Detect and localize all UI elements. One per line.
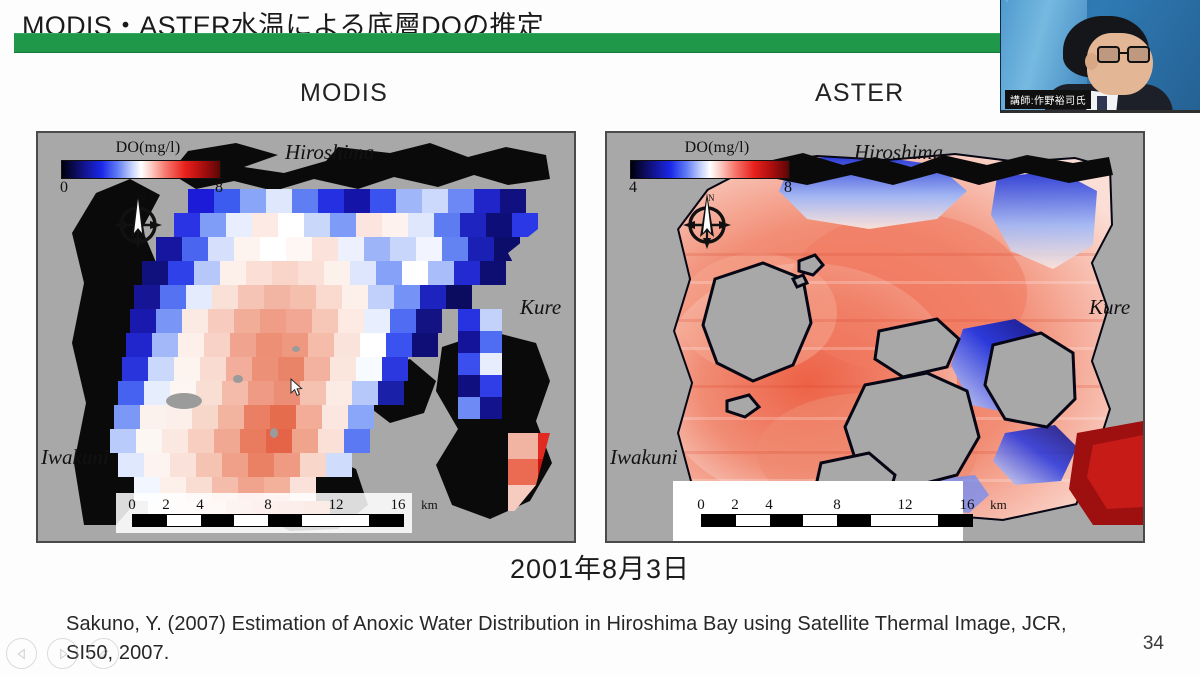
date-caption: 2001年8月3日: [0, 547, 1200, 586]
place-label-hiroshima: Hiroshima: [854, 140, 943, 165]
compass-rose-icon: N: [679, 191, 735, 261]
pen-icon: [97, 647, 110, 660]
modis-legend-min: 0: [60, 179, 68, 197]
aster-legend-max: 8: [784, 179, 792, 197]
scale-tick: 16: [960, 497, 975, 514]
modis-legend: DO(mg/l) 0 8: [58, 139, 238, 197]
video-progress-fill: [1001, 110, 1200, 113]
scale-tick: 2: [162, 497, 170, 514]
aster-scalebar-labels: 0 2 4 8 12 16 km: [693, 497, 993, 514]
scale-tick: 0: [697, 497, 705, 514]
aster-scalebar-track: [701, 514, 973, 527]
compass-rose-icon: N: [110, 191, 166, 261]
map-panel-aster: DO(mg/l) 4 8 N Hiroshima Kure Iwakuni: [605, 131, 1145, 543]
modis-legend-title: DO(mg/l): [58, 139, 238, 157]
aster-legend: DO(mg/l) 4 8: [627, 139, 807, 197]
modis-scalebar-labels: 0 2 4 8 12 16 km: [124, 497, 424, 514]
place-label-kure: Kure: [520, 295, 561, 320]
modis-colorbar: [61, 160, 221, 179]
video-progress-bar[interactable]: [1001, 110, 1200, 113]
webcam-poster-text: Technology Center: [1005, 0, 1015, 2]
panel-caption-modis: MODIS: [300, 79, 388, 108]
scale-tick: 12: [329, 497, 344, 514]
speaker-webcam-overlay[interactable]: Technology Center 講師:作野裕司氏: [1000, 0, 1200, 113]
player-controls[interactable]: [6, 638, 119, 669]
modis-legend-max: 8: [215, 179, 223, 197]
aster-legend-title: DO(mg/l): [627, 139, 807, 157]
annotation-tool-button[interactable]: [88, 638, 119, 669]
scale-tick: 16: [391, 497, 406, 514]
scale-unit: km: [421, 497, 438, 513]
scale-tick: 8: [264, 497, 272, 514]
aster-colorbar: [630, 160, 790, 179]
page-number: 34: [1143, 633, 1164, 655]
scale-tick: 12: [898, 497, 913, 514]
aster-scalebar: 0 2 4 8 12 16 km: [693, 497, 993, 527]
scale-tick: 2: [731, 497, 739, 514]
modis-scalebar: 0 2 4 8 12 16 km: [124, 497, 424, 527]
slide-canvas: MODIS・ASTER水温による底層DOの推定 MODIS ASTER: [0, 0, 1200, 676]
scale-tick: 4: [196, 497, 204, 514]
panel-caption-aster: ASTER: [815, 79, 904, 108]
speaker-name-caption: 講師:作野裕司氏: [1005, 90, 1091, 109]
modis-scalebar-track: [132, 514, 404, 527]
svg-text:N: N: [708, 193, 715, 203]
scale-tick: 4: [765, 497, 773, 514]
citation-text: Sakuno, Y. (2007) Estimation of Anoxic W…: [66, 610, 1096, 668]
speaker-glasses-icon: [1097, 46, 1151, 63]
title-accent-bar: [14, 33, 1000, 53]
scale-tick: 0: [128, 497, 136, 514]
place-label-iwakuni: Iwakuni: [610, 445, 678, 470]
next-triangle-icon: [57, 648, 69, 660]
aster-legend-min: 4: [629, 179, 637, 197]
previous-triangle-icon: [16, 648, 28, 660]
next-slide-button[interactable]: [47, 638, 78, 669]
svg-text:N: N: [139, 193, 146, 203]
place-label-iwakuni: Iwakuni: [41, 445, 109, 470]
scale-tick: 8: [833, 497, 841, 514]
scale-unit: km: [990, 497, 1007, 513]
map-panel-modis: DO(mg/l) 0 8 N Hiroshima Kure Iwakuni: [36, 131, 576, 543]
mouse-cursor-icon: [290, 378, 303, 397]
place-label-kure: Kure: [1089, 295, 1130, 320]
previous-slide-button[interactable]: [6, 638, 37, 669]
place-label-hiroshima: Hiroshima: [285, 140, 374, 165]
